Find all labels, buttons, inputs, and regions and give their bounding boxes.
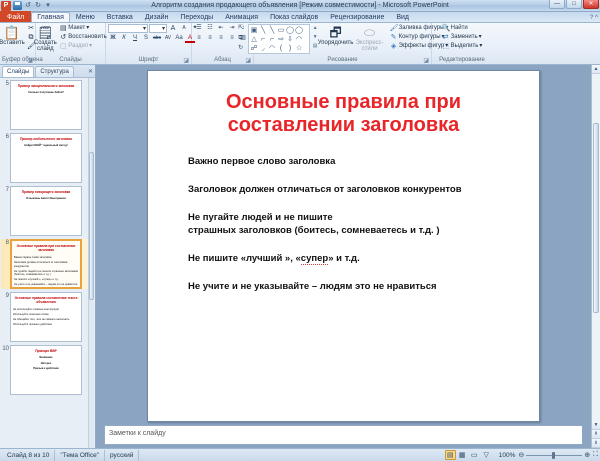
view-reading-button[interactable]: ▭ — [469, 450, 480, 460]
layout-label: Макет — [68, 24, 85, 33]
pencil-outline-icon: ✎ — [390, 33, 398, 42]
gallery-up-icon[interactable]: ▲ — [312, 24, 319, 33]
view-normal-button[interactable]: ▤ — [445, 450, 456, 460]
quick-styles-button[interactable]: ⬭ Экспресс-стили — [353, 24, 387, 52]
font-size-combo[interactable]: ▾ — [149, 24, 167, 33]
slide-bullet-line2: страшных заголовков (боитесь, сомневаете… — [188, 225, 440, 236]
replace-icon: ⇄ — [442, 33, 450, 42]
slide-vertical-scrollbar[interactable]: ▲ ▼ ⇞ ⇟ — [591, 65, 600, 448]
shape-item[interactable]: ⇩ — [286, 35, 295, 44]
paste-label: Вставить — [0, 40, 25, 46]
status-bar: Слайд 8 из 10 "Тема Office" русский ▤ ▦ … — [0, 448, 600, 461]
section-label: Раздел — [68, 42, 88, 51]
thumbnail-number: 7 — [1, 186, 10, 194]
quick-access-toolbar[interactable]: P ↺ ↻ ▾ — [0, 1, 52, 11]
slide-stage-wrapper: Основные правила при составлении заголов… — [96, 65, 591, 448]
new-slide-button[interactable]: 🗒 Создать слайд — [33, 24, 57, 52]
shape-item[interactable]: ☆ — [295, 44, 304, 53]
thumbnail-number: 5 — [1, 80, 10, 88]
ribbon: 📋 Вставить ✂ ⧉ 🖌 Буфер обмена ◪ 🗒 Создат… — [0, 23, 600, 65]
slide-bullet: Важно первое слово заголовка — [188, 155, 525, 168]
select-pointer-icon: ⬚ — [442, 42, 450, 51]
thumbnail-item[interactable]: 7 Пример говорящего заголовка Услышишь Б… — [1, 186, 94, 236]
slide-bullet: Не учите и не указывайте – людям это не … — [188, 280, 525, 293]
slides-group-label: Слайды — [38, 57, 103, 64]
replace-button[interactable]: ⇄Заменить▾ — [441, 33, 484, 42]
tab-view[interactable]: Вид — [390, 12, 415, 22]
thumbnail-preview[interactable]: Пример говорящего заголовка Услышишь Бин… — [10, 186, 82, 236]
view-slide-sorter-button[interactable]: ▦ — [457, 450, 468, 460]
ribbon-group-slides: 🗒 Создать слайд ▤Макет▾ ↺Восстановить ▢Р… — [36, 23, 106, 64]
slide-canvas[interactable]: Основные правила при составлении заголов… — [147, 70, 540, 422]
paste-button[interactable]: 📋 Вставить — [0, 24, 25, 46]
thumbnail-title: Основные правила составления текста объя… — [13, 296, 79, 305]
undo-icon[interactable]: ↺ — [24, 1, 32, 10]
thumbnail-item[interactable]: 9 Основные правила составления текста об… — [1, 292, 94, 342]
workspace: Слайды Структура ✕ 5 Пример эмоционально… — [0, 65, 600, 448]
drawing-dialog-launcher[interactable]: ◪ — [423, 57, 429, 64]
clipboard-icon: 📋 — [4, 25, 20, 40]
shape-item[interactable]: ╲ — [268, 26, 277, 35]
strikethrough-button[interactable]: abc — [152, 34, 162, 43]
shape-item[interactable]: ◞ — [259, 44, 268, 53]
next-slide-icon[interactable]: ⇟ — [592, 439, 600, 448]
align-objects-icon[interactable]: ⇱ — [236, 24, 246, 33]
maximize-button[interactable]: □ — [566, 0, 582, 9]
scroll-up-icon[interactable]: ▲ — [592, 65, 600, 74]
font-group-label: Шрифт — [108, 57, 189, 64]
slide-body[interactable]: Важно первое слово заголовка Заголовок д… — [162, 155, 525, 308]
thumbnail-title: Пример любопытного заголовка — [13, 137, 79, 141]
slide-bullet-text: Не пишите «лучший », « — [188, 253, 301, 264]
shape-item[interactable]: ◠ — [295, 35, 304, 44]
shape-item[interactable]: ▣ — [250, 26, 259, 35]
tab-design[interactable]: Дизайн — [139, 12, 175, 22]
notes-pane[interactable]: Заметки к слайду — [104, 425, 583, 445]
shapes-gallery[interactable]: ▣╲╲▭◯◯ △⌐⌐⇨⇩◠ ☍◞◠()☆ — [248, 24, 310, 54]
slide-bullet: Заголовок должен отличаться от заголовко… — [188, 183, 525, 196]
arrange-label: Упорядочить — [318, 40, 354, 46]
quick-styles-icon: ⬭ — [364, 25, 375, 40]
powerpoint-window: P ↺ ↻ ▾ Алгоритм создания продающего объ… — [0, 0, 600, 461]
thumbnail-item[interactable]: 6 Пример любопытного заголовка Найди СВО… — [1, 133, 94, 183]
clipboard-dialog-launcher[interactable]: ◪ — [27, 57, 33, 64]
chevron-down-icon: ▾ — [479, 42, 482, 51]
shape-item[interactable]: ⇨ — [277, 35, 286, 44]
ribbon-help-icons[interactable]: ? ^ — [590, 15, 598, 21]
bullets-button[interactable]: ☰ — [194, 24, 204, 33]
thumbnail-item-selected[interactable]: 8 Основные правила при составлении загол… — [1, 239, 94, 289]
zoom-in-button[interactable]: ⊕ — [584, 451, 590, 459]
thumbnail-preview[interactable]: Основные правила составления текста объя… — [10, 292, 82, 342]
save-icon[interactable] — [13, 1, 22, 10]
shape-item[interactable]: △ — [250, 35, 259, 44]
bold-button[interactable]: Ж — [108, 34, 118, 43]
drawing-group-label: Рисование — [256, 57, 429, 64]
thumbnail-item[interactable]: 10 Принцип ВВР Внимание Интерес Призыв к… — [1, 345, 94, 395]
numbering-button[interactable]: ☷ — [205, 24, 215, 33]
redo-icon[interactable]: ↻ — [34, 1, 42, 10]
paragraph-dialog-launcher[interactable]: ◪ — [245, 57, 251, 64]
replace-label: Заменить — [451, 33, 478, 42]
slide-title[interactable]: Основные правила при составлении заголов… — [162, 91, 525, 137]
align-right-button[interactable]: ≡ — [216, 34, 226, 43]
panel-tabs[interactable]: Слайды Структура ✕ — [0, 65, 95, 78]
underline-button[interactable]: Ч — [130, 34, 140, 43]
thumbnail-item[interactable]: 5 Пример эмоционального заголовка Скольк… — [1, 80, 94, 130]
close-panel-icon[interactable]: ✕ — [88, 68, 93, 75]
font-dialog-launcher[interactable]: ◪ — [183, 57, 189, 64]
window-title: Алгоритм создания продающего объявления … — [0, 2, 600, 9]
arrange-icon: 🗗 — [329, 25, 341, 40]
thumbnail-body: Внимание Интерес Призыв к действию — [13, 356, 79, 370]
section-button[interactable]: ▢Раздел▾ — [58, 42, 107, 51]
tab-slideshow[interactable]: Показ слайдов — [264, 12, 324, 22]
new-slide-icon: 🗒 — [37, 25, 54, 40]
zoom-out-button[interactable]: ⊖ — [518, 451, 524, 459]
thumbnail-body: Услышишь Бинго! Выиграешь! — [13, 197, 79, 201]
shape-item[interactable]: ☍ — [250, 44, 259, 53]
align-left-button[interactable]: ≡ — [194, 34, 204, 43]
view-buttons[interactable]: ▤ ▦ ▭ ▽ — [445, 450, 492, 460]
select-button[interactable]: ⬚Выделить▾ — [441, 42, 484, 51]
decrease-indent-button[interactable]: ⇤ — [216, 24, 226, 33]
arrange-button[interactable]: 🗗 Упорядочить — [321, 24, 351, 46]
change-case-button[interactable]: Aa — [174, 34, 184, 43]
slide-bullet-line1: Не пугайте людей и не пишите — [188, 212, 333, 223]
zoom-slider[interactable]: ⊖ ⊕ — [518, 451, 590, 459]
tab-file[interactable]: Файл — [0, 11, 31, 22]
thumbnail-number: 9 — [1, 292, 10, 300]
shapes-gallery-nav[interactable]: ▲ ▼ ▤ — [312, 24, 319, 51]
new-slide-label: Создать слайд — [33, 40, 57, 52]
tab-slides[interactable]: Слайды — [2, 66, 34, 77]
thumbnail-scrollbar-thumb[interactable] — [89, 152, 94, 300]
quick-styles-label: Экспресс-стили — [353, 40, 387, 52]
tab-home[interactable]: Главная — [31, 12, 70, 22]
thumbnail-list[interactable]: 5 Пример эмоционального заголовка Скольк… — [0, 78, 95, 448]
help-icon[interactable]: ? — [590, 15, 593, 21]
layout-icon: ▤ — [59, 24, 67, 33]
ribbon-group-drawing: ⇱ ⧉ ↻ ▣╲╲▭◯◯ △⌐⌐⇨⇩◠ ☍◞◠()☆ ▲ ▼ ▤ 🗗 Упоря… — [254, 23, 432, 64]
chevron-down-icon: ▾ — [143, 25, 146, 33]
thumbnail-title: Основные правила при составлении заголов… — [14, 244, 78, 253]
thumbnail-preview[interactable]: Основные правила при составлении заголов… — [10, 239, 82, 289]
thumbnail-preview[interactable]: Пример эмоционального заголовка Сколько … — [10, 80, 82, 130]
thumbnail-body: Важно первое слово заголовка Заголовок д… — [14, 256, 78, 287]
minimize-button[interactable]: — — [549, 0, 565, 9]
thumbnail-preview[interactable]: Пример любопытного заголовка Найди СВОЙ … — [10, 133, 82, 183]
chevron-down-icon: ▾ — [89, 42, 92, 51]
chevron-down-icon: ▾ — [162, 25, 165, 33]
thumbnail-scrollbar[interactable] — [88, 78, 94, 448]
shape-item[interactable]: ⌐ — [268, 35, 277, 44]
binoculars-icon: 🔍 — [442, 24, 450, 33]
thumbnail-title: Принцип ВВР — [13, 349, 79, 353]
shape-item[interactable]: ▭ — [277, 26, 286, 35]
character-spacing-button[interactable]: AV — [163, 34, 173, 43]
tab-menu[interactable]: Меню — [70, 12, 101, 22]
slide-counter[interactable]: Слайд 8 из 10 — [2, 450, 55, 461]
title-bar: P ↺ ↻ ▾ Алгоритм создания продающего объ… — [0, 0, 600, 12]
find-label: Найти — [451, 24, 468, 33]
editing-group-label: Редактирование — [434, 57, 490, 64]
scroll-down-icon[interactable]: ▼ — [592, 421, 600, 430]
thumbnail-title: Пример говорящего заголовка — [13, 190, 79, 194]
shape-item[interactable]: ◯ — [295, 26, 304, 35]
window-controls[interactable]: — □ ✕ — [549, 0, 599, 9]
scroll-track[interactable] — [592, 74, 600, 421]
zoom-level-label[interactable]: 100% — [499, 452, 516, 459]
view-slideshow-button[interactable]: ▽ — [481, 450, 492, 460]
find-button[interactable]: 🔍Найти — [441, 24, 484, 33]
tab-animations[interactable]: Анимация — [219, 12, 264, 22]
reset-label: Восстановить — [68, 33, 106, 42]
thumbnail-body: Найди СВОЙ " идеальный метод! — [13, 144, 79, 148]
thumbnail-number: 6 — [1, 133, 10, 141]
theme-name[interactable]: "Тема Office" — [55, 450, 105, 461]
thumbnail-title: Пример эмоционального заголовка — [13, 84, 79, 88]
italic-button[interactable]: К — [119, 34, 129, 43]
rotate-objects-icon[interactable]: ↻ — [236, 44, 246, 53]
thumbnail-preview[interactable]: Принцип ВВР Внимание Интерес Призыв к де… — [10, 345, 82, 395]
reset-button[interactable]: ↺Восстановить — [58, 33, 107, 42]
shape-item[interactable]: ) — [286, 44, 295, 53]
slide-stage: Основные правила при составлении заголов… — [96, 65, 591, 425]
misspelled-word: супер — [301, 253, 328, 265]
language-indicator[interactable]: русский — [105, 450, 139, 461]
align-center-button[interactable]: ≡ — [205, 34, 215, 43]
slide-bullet-text-end: » и т.д. — [328, 253, 360, 264]
previous-slide-icon[interactable]: ⇞ — [592, 430, 600, 439]
effects-icon: ◈ — [390, 42, 398, 51]
shape-item[interactable]: ( — [277, 44, 286, 53]
shape-item[interactable]: ╲ — [259, 26, 268, 35]
thumbnail-number: 8 — [1, 239, 10, 247]
powerpoint-logo-icon[interactable]: P — [1, 1, 11, 11]
text-shadow-button[interactable]: S — [141, 34, 151, 43]
shrink-font-button[interactable]: A — [179, 24, 189, 33]
scroll-thumb[interactable] — [593, 123, 599, 314]
slide-bullet: Не пугайте людей и не пишите страшных за… — [188, 211, 525, 237]
minimize-ribbon-icon[interactable]: ^ — [595, 15, 598, 21]
chevron-down-icon: ▾ — [479, 33, 482, 42]
shape-item[interactable]: ◯ — [286, 26, 295, 35]
fit-to-window-button[interactable]: ⛶ — [593, 451, 598, 459]
font-name-combo[interactable]: ▾ — [108, 24, 148, 33]
slide-bullet: Не пишите «лучший », «супер» и т.д. — [188, 252, 525, 265]
section-icon: ▢ — [59, 42, 67, 51]
reset-icon: ↺ — [59, 33, 67, 42]
tab-insert[interactable]: Вставка — [101, 12, 139, 22]
slide-thumbnail-panel: Слайды Структура ✕ 5 Пример эмоционально… — [0, 65, 96, 448]
thumbnail-body: Сколько получаешь бабла? — [13, 91, 79, 95]
tab-review[interactable]: Рецензирование — [324, 12, 390, 22]
thumbnail-body: Не используйте сложные конструкции Испол… — [13, 308, 79, 327]
grow-font-button[interactable]: A — [168, 24, 178, 33]
zoom-track[interactable] — [526, 455, 582, 456]
paragraph-group-label: Абзац — [194, 57, 251, 64]
chevron-down-icon: ▾ — [86, 24, 89, 33]
zoom-knob[interactable] — [552, 452, 555, 459]
ribbon-group-clipboard: 📋 Вставить ✂ ⧉ 🖌 Буфер обмена ◪ — [0, 23, 36, 64]
ribbon-group-font: ▾ ▾ A A ✦ Ж К Ч S abc AV Aa A Шрифт — [106, 23, 192, 64]
layout-button[interactable]: ▤Макет▾ — [58, 24, 107, 33]
paint-bucket-icon: 🖌 — [390, 24, 398, 33]
shape-item[interactable]: ⌐ — [259, 35, 268, 44]
shape-item[interactable]: ◠ — [268, 44, 277, 53]
ribbon-tab-strip[interactable]: Файл Главная Меню Вставка Дизайн Переход… — [0, 12, 600, 23]
customize-qat-icon[interactable]: ▾ — [44, 1, 52, 10]
close-button[interactable]: ✕ — [583, 0, 599, 9]
group-objects-icon[interactable]: ⧉ — [236, 34, 246, 43]
thumbnail-number: 10 — [1, 345, 10, 353]
tab-outline[interactable]: Структура — [35, 66, 73, 77]
ribbon-group-editing: 🔍Найти ⇄Заменить▾ ⬚Выделить▾ Редактирова… — [432, 23, 492, 64]
tab-transitions[interactable]: Переходы — [174, 12, 219, 22]
select-label: Выделить — [451, 42, 479, 51]
